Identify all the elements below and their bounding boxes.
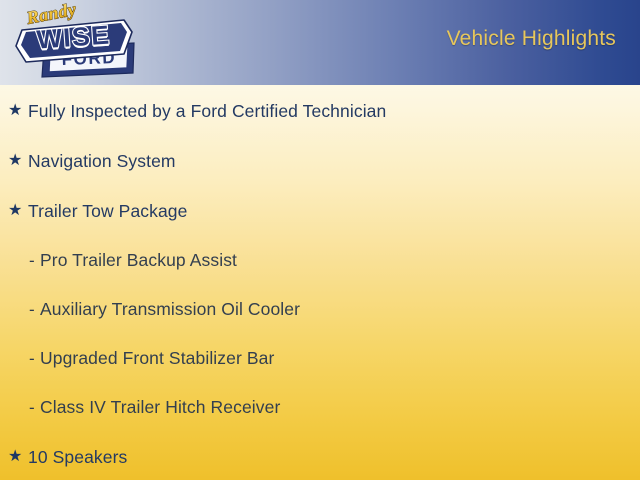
star-bullet-icon: ★ <box>8 153 28 169</box>
list-sub-item: - Upgraded Front Stabilizer Bar <box>0 342 640 374</box>
list-item: ★ Trailer Tow Package <box>0 195 640 227</box>
vehicle-highlights-slide: FORD WISE WISE Randy Vehicle Highlights … <box>0 0 640 480</box>
svg-text:WISE: WISE <box>36 20 112 55</box>
list-item-label: Trailer Tow Package <box>28 201 187 221</box>
list-sub-item-label: Class IV Trailer Hitch Receiver <box>40 397 280 417</box>
list-sub-item-label: Pro Trailer Backup Assist <box>40 250 237 270</box>
dash-bullet-icon: - <box>29 350 40 367</box>
vehicle-highlights-list: ★ Fully Inspected by a Ford Certified Te… <box>0 85 640 480</box>
star-bullet-icon: ★ <box>8 203 28 219</box>
list-item-label: Fully Inspected by a Ford Certified Tech… <box>28 101 386 121</box>
dash-bullet-icon: - <box>29 252 40 269</box>
list-sub-item: - Pro Trailer Backup Assist <box>0 244 640 276</box>
star-bullet-icon: ★ <box>8 103 28 119</box>
list-sub-item-label: Upgraded Front Stabilizer Bar <box>40 348 274 368</box>
list-sub-item: - Class IV Trailer Hitch Receiver <box>0 391 640 423</box>
list-item-label: Navigation System <box>28 151 176 171</box>
list-item: ★ 10 Speakers <box>0 441 640 473</box>
page-header: FORD WISE WISE Randy Vehicle Highlights <box>0 0 640 85</box>
list-sub-item-label: Auxiliary Transmission Oil Cooler <box>40 299 300 319</box>
list-item: ★ Navigation System <box>0 145 640 177</box>
page-title: Vehicle Highlights <box>447 27 616 51</box>
list-item: ★ Fully Inspected by a Ford Certified Te… <box>0 95 640 127</box>
star-bullet-icon: ★ <box>8 449 28 465</box>
list-sub-item: - Auxiliary Transmission Oil Cooler <box>0 293 640 325</box>
dash-bullet-icon: - <box>29 301 40 318</box>
dash-bullet-icon: - <box>29 399 40 416</box>
randy-wise-ford-logo: FORD WISE WISE Randy <box>6 2 146 82</box>
list-item-label: 10 Speakers <box>28 447 127 467</box>
